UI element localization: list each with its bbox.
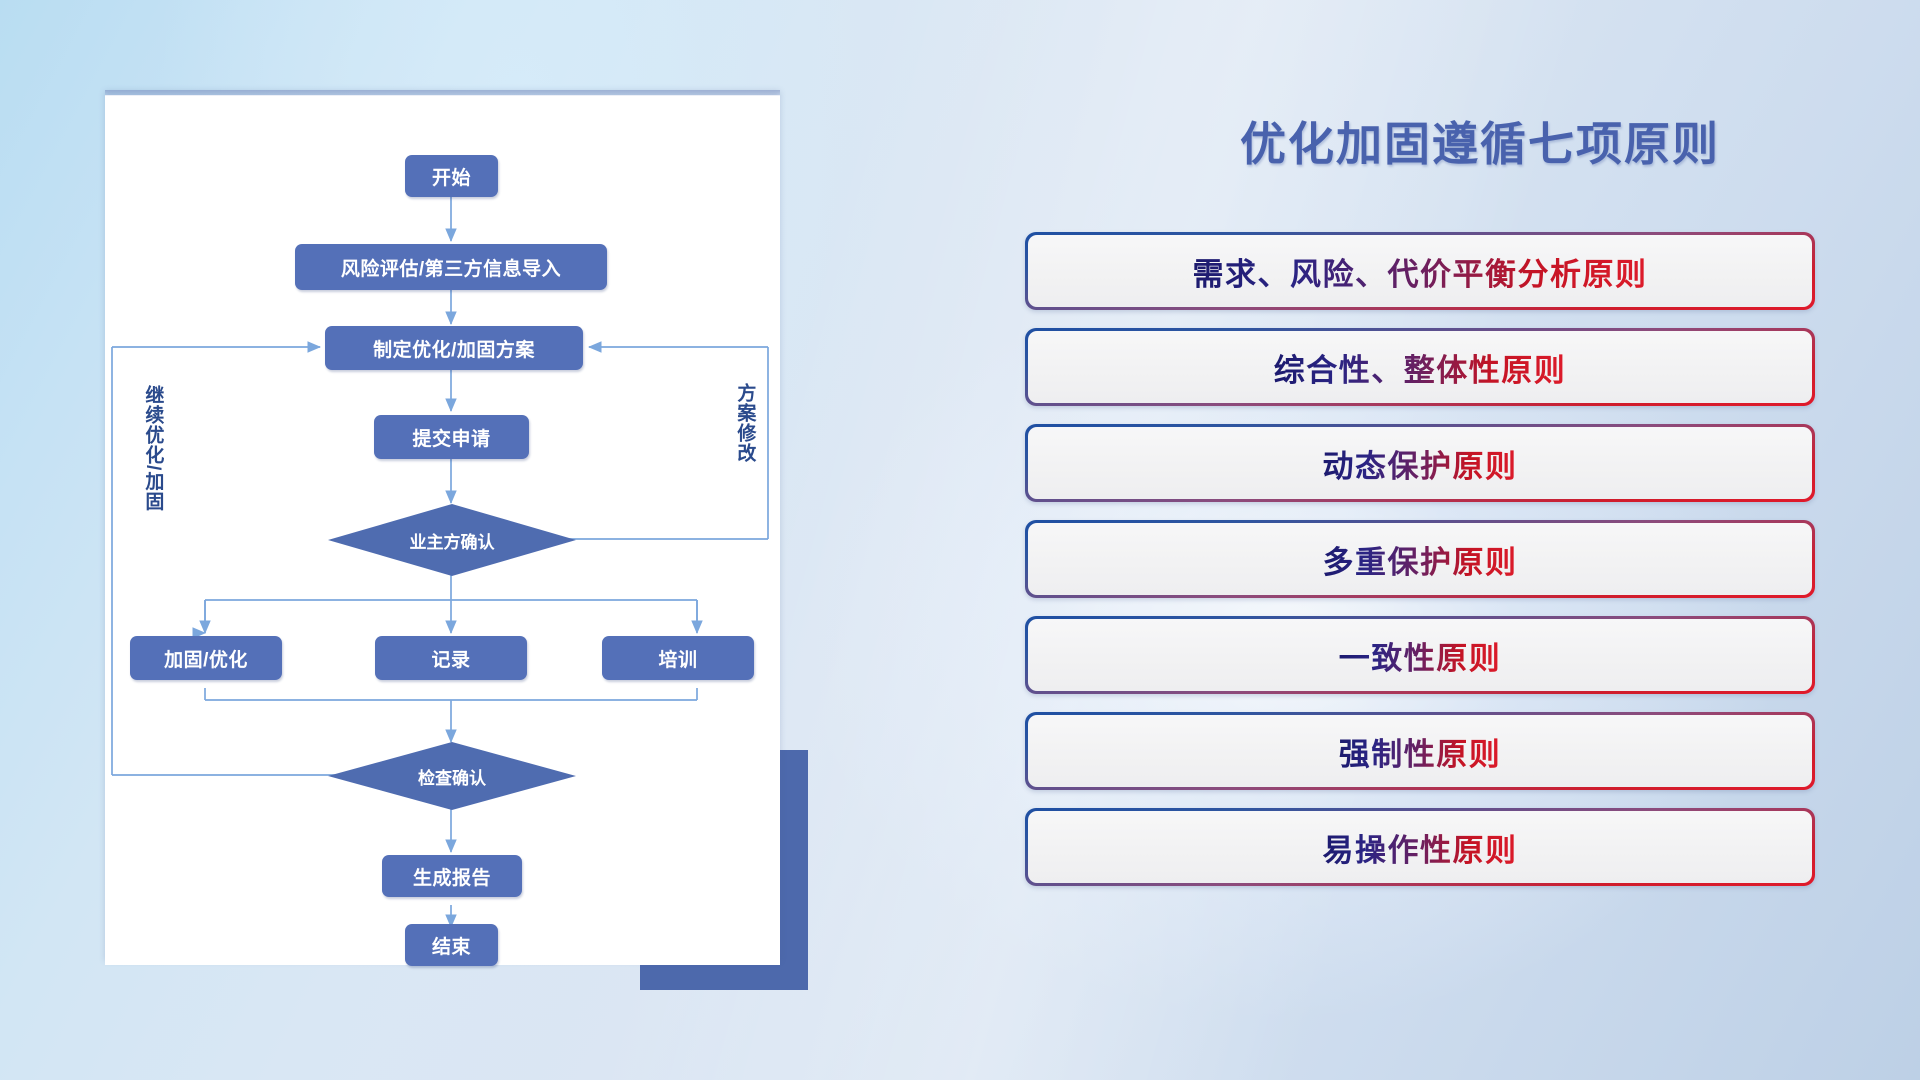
flow-node-label: 开始 xyxy=(432,163,471,190)
principle-item-7[interactable]: 易操作性原则 xyxy=(1025,808,1815,886)
principle-item-surface: 动态保护原则 xyxy=(1028,427,1812,499)
flow-node-label: 风险评估/第三方信息导入 xyxy=(341,254,561,281)
principle-item-surface: 需求、风险、代价平衡分析原则 xyxy=(1028,235,1812,307)
principle-item-surface: 多重保护原则 xyxy=(1028,523,1812,595)
edge-label-plan-revision: 方案修改 xyxy=(735,383,754,463)
flow-node-make-plan[interactable]: 制定优化/加固方案 xyxy=(325,326,583,370)
principle-item-surface: 易操作性原则 xyxy=(1028,811,1812,883)
flow-node-risk-assessment[interactable]: 风险评估/第三方信息导入 xyxy=(295,244,607,290)
flow-node-label: 制定优化/加固方案 xyxy=(373,335,535,362)
flow-node-label: 生成报告 xyxy=(413,863,491,890)
flow-node-training[interactable]: 培训 xyxy=(602,636,754,680)
flow-node-label: 加固/优化 xyxy=(164,645,248,672)
flow-node-label: 结束 xyxy=(432,932,471,959)
principle-label: 综合性、整体性原则 xyxy=(1274,345,1567,390)
principle-item-1[interactable]: 需求、风险、代价平衡分析原则 xyxy=(1025,232,1815,310)
principle-label: 强制性原则 xyxy=(1339,729,1502,774)
slide-canvas: 开始 风险评估/第三方信息导入 制定优化/加固方案 提交申请 业主方确认 加固/… xyxy=(0,0,1920,1080)
flow-node-label: 记录 xyxy=(431,645,470,672)
principle-item-3[interactable]: 动态保护原则 xyxy=(1025,424,1815,502)
principle-item-5[interactable]: 一致性原则 xyxy=(1025,616,1815,694)
flow-node-end[interactable]: 结束 xyxy=(405,924,498,966)
principles-list: 需求、风险、代价平衡分析原则 综合性、整体性原则 动态保护原则 多重保护原则 一… xyxy=(1025,232,1815,904)
flow-node-label: 培训 xyxy=(658,645,697,672)
flow-node-reinforce-optimize[interactable]: 加固/优化 xyxy=(130,636,282,680)
flow-node-submit-application[interactable]: 提交申请 xyxy=(374,415,529,459)
principle-label: 多重保护原则 xyxy=(1323,537,1518,582)
principle-item-surface: 一致性原则 xyxy=(1028,619,1812,691)
flow-node-record[interactable]: 记录 xyxy=(375,636,527,680)
principle-item-6[interactable]: 强制性原则 xyxy=(1025,712,1815,790)
principle-item-surface: 强制性原则 xyxy=(1028,715,1812,787)
page-title: 优化加固遵循七项原则 xyxy=(1150,108,1810,174)
principle-item-4[interactable]: 多重保护原则 xyxy=(1025,520,1815,598)
principle-item-surface: 综合性、整体性原则 xyxy=(1028,331,1812,403)
principle-label: 动态保护原则 xyxy=(1323,441,1518,486)
principle-label: 一致性原则 xyxy=(1339,633,1502,678)
edge-label-continue-optimize: 继续优化/加固 xyxy=(143,385,162,511)
flow-node-label: 提交申请 xyxy=(412,424,490,451)
flow-node-label: 检查确认 xyxy=(418,764,486,789)
flow-node-generate-report[interactable]: 生成报告 xyxy=(382,855,522,897)
flow-node-start[interactable]: 开始 xyxy=(405,155,498,197)
principle-label: 需求、风险、代价平衡分析原则 xyxy=(1193,249,1648,294)
principle-label: 易操作性原则 xyxy=(1323,825,1518,870)
principle-item-2[interactable]: 综合性、整体性原则 xyxy=(1025,328,1815,406)
flow-node-label: 业主方确认 xyxy=(410,528,495,553)
